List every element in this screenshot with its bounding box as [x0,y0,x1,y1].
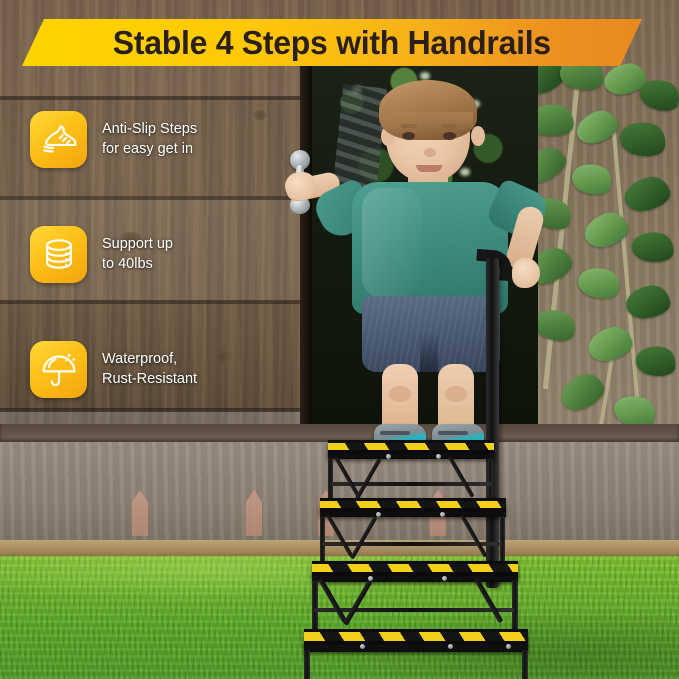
step-4-tread [328,440,494,454]
child-knee [389,386,411,402]
child-eye [443,132,456,140]
headline-text: Stable 4 Steps with Handrails [113,24,551,62]
feature-line-2: for easy get in [102,139,197,159]
step-2-brace [474,578,503,624]
feature-line-1: Anti-Slip Steps [102,121,197,137]
child-eyebrow [441,124,457,128]
feature-text-anti-slip: Anti-Slip Steps for easy get in [102,119,197,159]
child-right-hand [512,258,540,288]
feature-line-2: to 40lbs [102,254,173,274]
feature-line-1: Waterproof, [102,351,177,367]
bolt [436,454,441,459]
child-eyebrow [401,124,417,128]
light-spot [420,72,430,80]
feature-text-capacity: Support up to 40lbs [102,234,173,274]
feature-line-1: Support up [102,236,173,252]
step-3-brace [326,514,353,558]
step-3-brace [460,514,487,558]
feature-item-waterproof: Waterproof, Rust-Resistant [30,340,280,398]
feature-item-anti-slip: Anti-Slip Steps for easy get in [30,110,280,168]
step-2-brace [318,578,347,624]
bolt [506,644,511,649]
step-2-leg [312,580,318,634]
child-ear [471,126,485,146]
step-3-tread [320,498,506,512]
feature-text-waterproof: Waterproof, Rust-Resistant [102,349,197,389]
step-4-brace [448,456,474,498]
step-1-tread [304,629,528,645]
bolt [360,644,365,649]
bolt [448,644,453,649]
step-1-leg [304,650,310,679]
feature-list: Anti-Slip Steps for easy get in Support … [30,110,280,455]
bolt [376,512,381,517]
light-spot [460,168,470,176]
step-3-brace [350,516,377,560]
child-nose [424,148,436,157]
step-2-tread [312,561,518,576]
headline-banner: Stable 4 Steps with Handrails [22,19,642,66]
sneaker-icon [30,111,87,168]
child-shorts [362,296,500,372]
step-4-brace [355,458,381,500]
feature-item-capacity: Support up to 40lbs [30,225,280,283]
child-left-hand [285,172,315,200]
step-2-rail [314,608,514,612]
bolt [442,576,447,581]
bolt [386,454,391,459]
child-knee [445,386,467,402]
step-4-brace [334,456,360,498]
step-2-brace [343,580,372,626]
child-mouth [416,165,442,172]
product-marketing-image: Stable 4 Steps with Handrails Anti-Slip … [0,0,679,679]
feature-line-2: Rust-Resistant [102,369,197,389]
database-stack-icon [30,226,87,283]
child-tshirt [352,182,508,314]
step-2-leg [512,580,518,634]
bolt [368,576,373,581]
umbrella-rain-icon [30,341,87,398]
fence-point [132,490,148,536]
fence-point [246,490,262,536]
child-hair [379,80,477,140]
step-stool-product [300,420,566,679]
step-1-leg [522,650,528,679]
bolt [440,512,445,517]
child-eye [402,132,415,140]
